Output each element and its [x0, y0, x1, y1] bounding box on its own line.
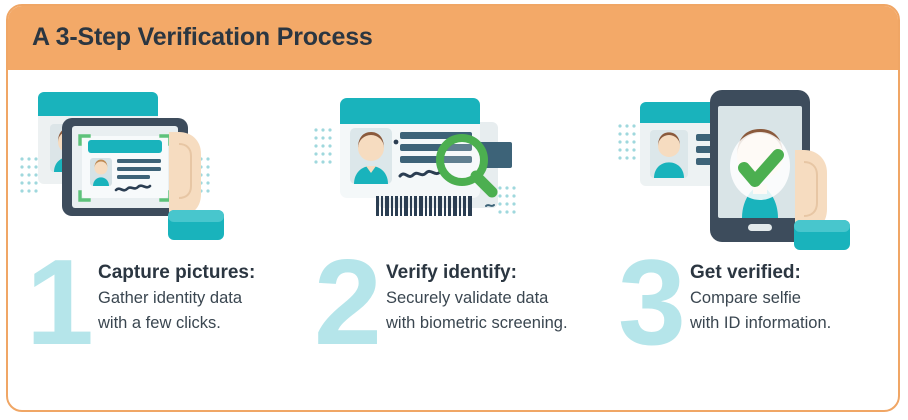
step-description-line: with biometric screening.: [386, 311, 611, 336]
step-text-block: Get verified: Compare selfie with ID inf…: [690, 260, 900, 336]
id-card-magnifier-icon: [304, 84, 601, 254]
step-description: Securely validate data with biometric sc…: [386, 286, 611, 336]
step-description-line: Compare selfie: [690, 286, 900, 311]
step-number: 1: [26, 250, 94, 354]
step-item: 1 Capture pictures: Gather identity data…: [16, 72, 313, 410]
step-description: Compare selfie with ID information.: [690, 286, 900, 336]
step-description-line: with a few clicks.: [98, 311, 323, 336]
step-item: 3 Get verified: Compare selfie with ID i…: [608, 72, 900, 410]
step-description-line: with ID information.: [690, 311, 900, 336]
step-heading: Get verified:: [690, 260, 900, 286]
step-number: 2: [314, 250, 382, 354]
step-text-block: Verify identify: Securely validate data …: [386, 260, 611, 336]
phone-selfie-check-icon: [608, 84, 900, 254]
page-title: A 3-Step Verification Process: [32, 23, 373, 52]
step-description: Gather identity data with a few clicks.: [98, 286, 323, 336]
step-item: 2 Verify identify: Securely validate dat…: [304, 72, 601, 410]
infographic-card: A 3-Step Verification Process: [6, 4, 900, 412]
steps-row: 1 Capture pictures: Gather identity data…: [8, 72, 898, 410]
tablet-scanning-id-icon: [16, 84, 313, 254]
step-description-line: Securely validate data: [386, 286, 611, 311]
step-description-line: Gather identity data: [98, 286, 323, 311]
step-number: 3: [618, 250, 686, 354]
step-text-block: Capture pictures: Gather identity data w…: [98, 260, 323, 336]
step-heading: Verify identify:: [386, 260, 611, 286]
step-heading: Capture pictures:: [98, 260, 323, 286]
